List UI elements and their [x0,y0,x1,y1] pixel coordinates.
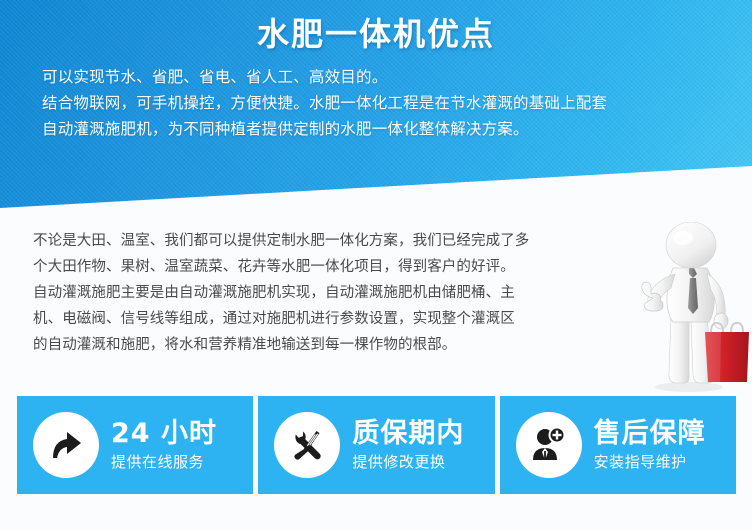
bag-handle-right [731,323,743,332]
badge-text: 售后保障 安装指导维护 [594,420,706,470]
leg-left [669,318,689,383]
badge-24-hour-service[interactable]: 24 小时 提供在线服务 [17,396,253,494]
badge-text: 24 小时 提供在线服务 [111,420,217,470]
body-paragraph-line: 自动灌溉施肥主要是由自动灌溉施肥机实现，自动灌溉施肥机由储肥桶、主 [33,280,651,306]
figure-shadow [655,382,723,392]
hero-description-line: 自动灌溉施肥机，为不同种植者提供定制的水肥一体化整体解决方案。 [42,116,732,142]
hero-description: 可以实现节水、省肥、省电、省人工、高效目的。 结合物联网，可手机操控，方便快捷。… [42,64,732,142]
body-paragraph-line: 的自动灌溉和施肥，将水和营养精准地输送到每一棵作物的根部。 [33,332,651,358]
hero-description-line: 可以实现节水、省肥、省电、省人工、高效目的。 [42,64,732,90]
body-paragraph-line: 机、电磁阀、信号线等组成，通过对施肥机进行参数设置，实现整个灌溉区 [33,306,651,332]
badge-warranty-period[interactable]: 质保期内 提供修改更换 [258,396,494,494]
badge-title: 24 小时 [111,420,217,447]
promo-banner: 水肥一体机优点 可以实现节水、省肥、省电、省人工、高效目的。 结合物联网，可手机… [0,0,752,530]
mannequin-illustration [631,222,752,392]
badge-after-sales-support[interactable]: 售后保障 安装指导维护 [500,396,736,494]
head [666,222,716,268]
badge-title: 售后保障 [594,420,706,447]
badge-title: 质保期内 [352,420,464,447]
hand-right [714,313,728,329]
mannequin-figure [631,222,752,392]
hero-description-line: 结合物联网，可手机操控，方便快捷。水肥一体化工程是在节水灌溉的基础上配套 [42,90,732,116]
body-paragraph-line: 不论是大田、温室、我们都可以提供定制水肥一体化方案，我们已经完成了多 [33,228,651,254]
badge-text: 质保期内 提供修改更换 [352,420,464,470]
head-highlight [673,231,693,245]
badge-subtitle: 提供在线服务 [111,455,217,470]
body-paragraph-line: 个大田作物、果树、温室蔬菜、花卉等水肥一体化项目，得到客户的好评。 [33,254,651,280]
page-title: 水肥一体机优点 [0,9,752,55]
person-add-icon [516,412,582,478]
wrench-screwdriver-icon [274,412,340,478]
curved-arrow-icon [33,412,99,478]
badge-subtitle: 提供修改更换 [352,455,464,470]
feature-badges: 24 小时 提供在线服务 质保期内 提 [17,396,736,494]
body-paragraph: 不论是大田、温室、我们都可以提供定制水肥一体化方案，我们已经完成了多 个大田作物… [33,228,651,358]
badge-subtitle: 安装指导维护 [594,455,706,470]
